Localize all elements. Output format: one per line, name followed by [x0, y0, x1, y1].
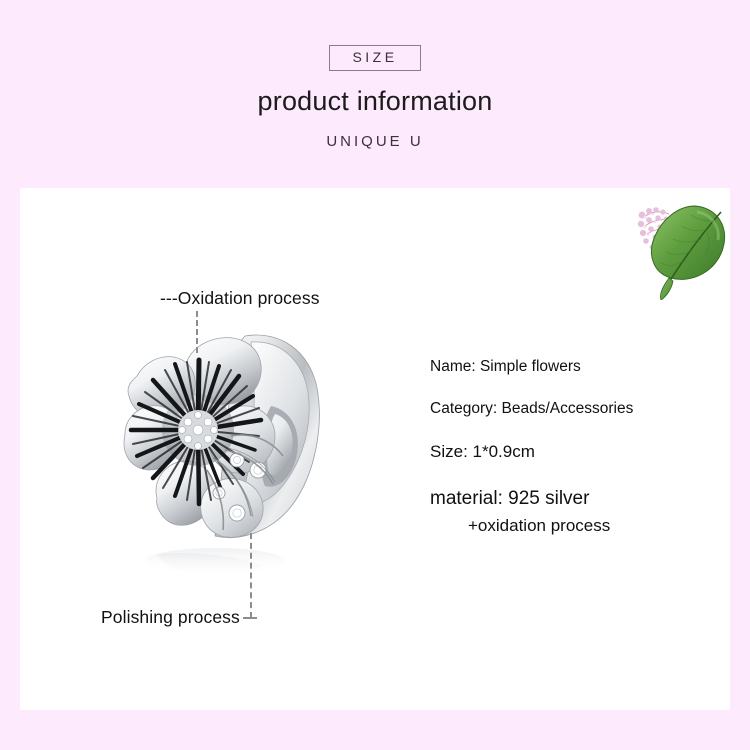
- spec-material: material: 925 silver: [430, 488, 710, 510]
- spec-category: Category: Beads/Accessories: [430, 400, 710, 418]
- product-image-silver-flower-charm: [95, 318, 357, 603]
- leader-line-bottom-tick: [243, 617, 257, 619]
- product-spec-list: Name: Simple flowers Category: Beads/Acc…: [430, 358, 710, 536]
- page-title: product information: [0, 86, 750, 117]
- brand-subtitle: UNIQUE U: [0, 133, 750, 150]
- annotation-oxidation-process: ---Oxidation process: [160, 288, 320, 309]
- spec-size: Size: 1*0.9cm: [430, 442, 710, 462]
- size-badge: SIZE: [329, 45, 420, 71]
- annotation-polishing-process: Polishing process: [101, 607, 240, 628]
- spec-material-detail: +oxidation process: [430, 516, 710, 536]
- leader-line-bottom: [250, 533, 252, 618]
- spec-name: Name: Simple flowers: [430, 358, 710, 376]
- page-header: SIZE product information UNIQUE U: [0, 0, 750, 188]
- leader-line-top: [196, 311, 198, 353]
